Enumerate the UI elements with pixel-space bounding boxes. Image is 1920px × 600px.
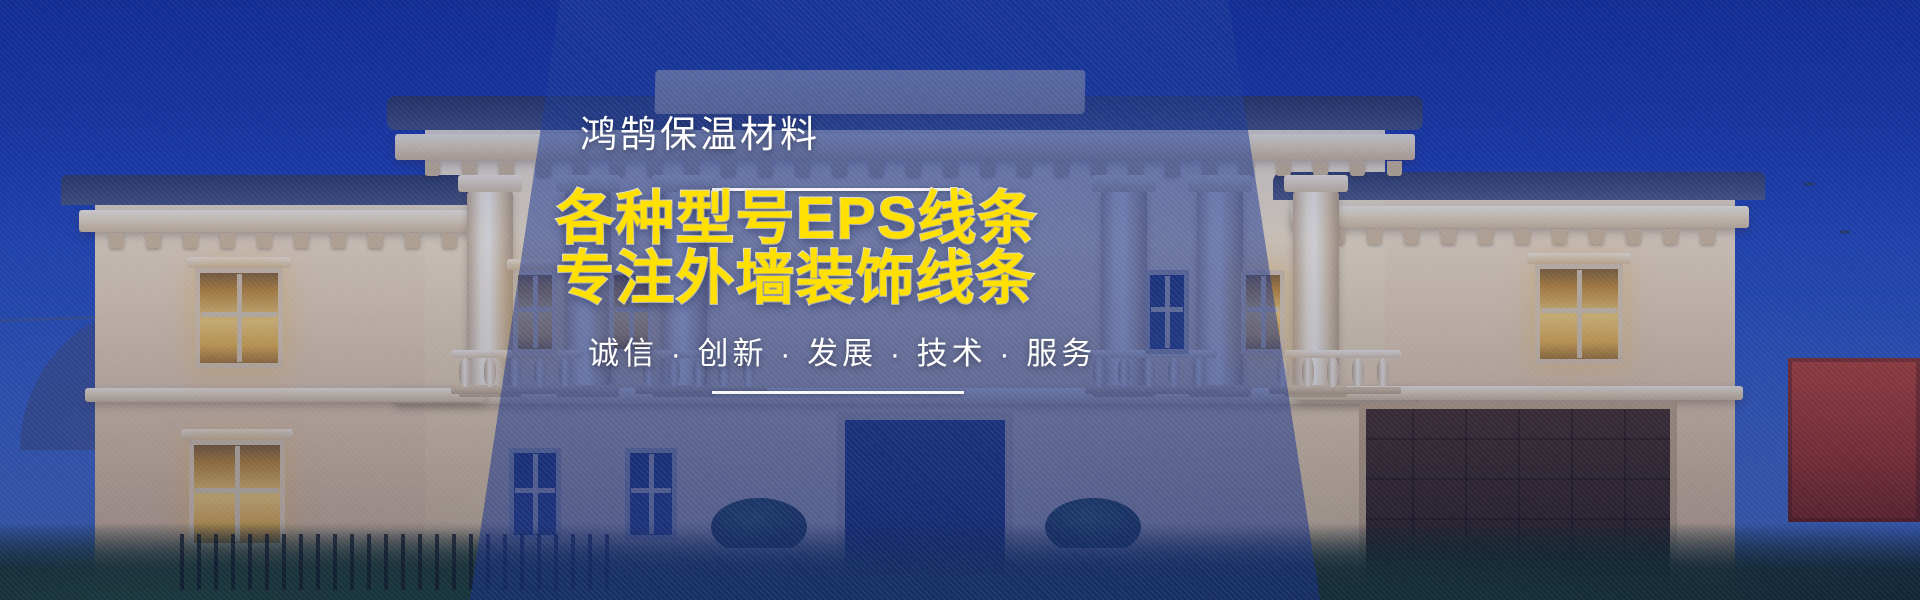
- headline-line-1: 各种型号EPS线条: [556, 188, 1038, 250]
- divider-bottom: [712, 391, 964, 394]
- banner-copy: 鸿鹄保温材料 各种型号EPS线条 专注外墙装饰线条 诚信 · 创新 · 发展 ·…: [0, 0, 1920, 600]
- brand-name: 鸿鹄保温材料: [580, 104, 820, 158]
- promo-banner: 鸿鹄保温材料 各种型号EPS线条 专注外墙装饰线条 诚信 · 创新 · 发展 ·…: [0, 0, 1920, 600]
- headline-line-2: 专注外墙装饰线条: [556, 248, 1036, 310]
- tagline: 诚信 · 创新 · 发展 · 技术 · 服务: [588, 328, 1096, 373]
